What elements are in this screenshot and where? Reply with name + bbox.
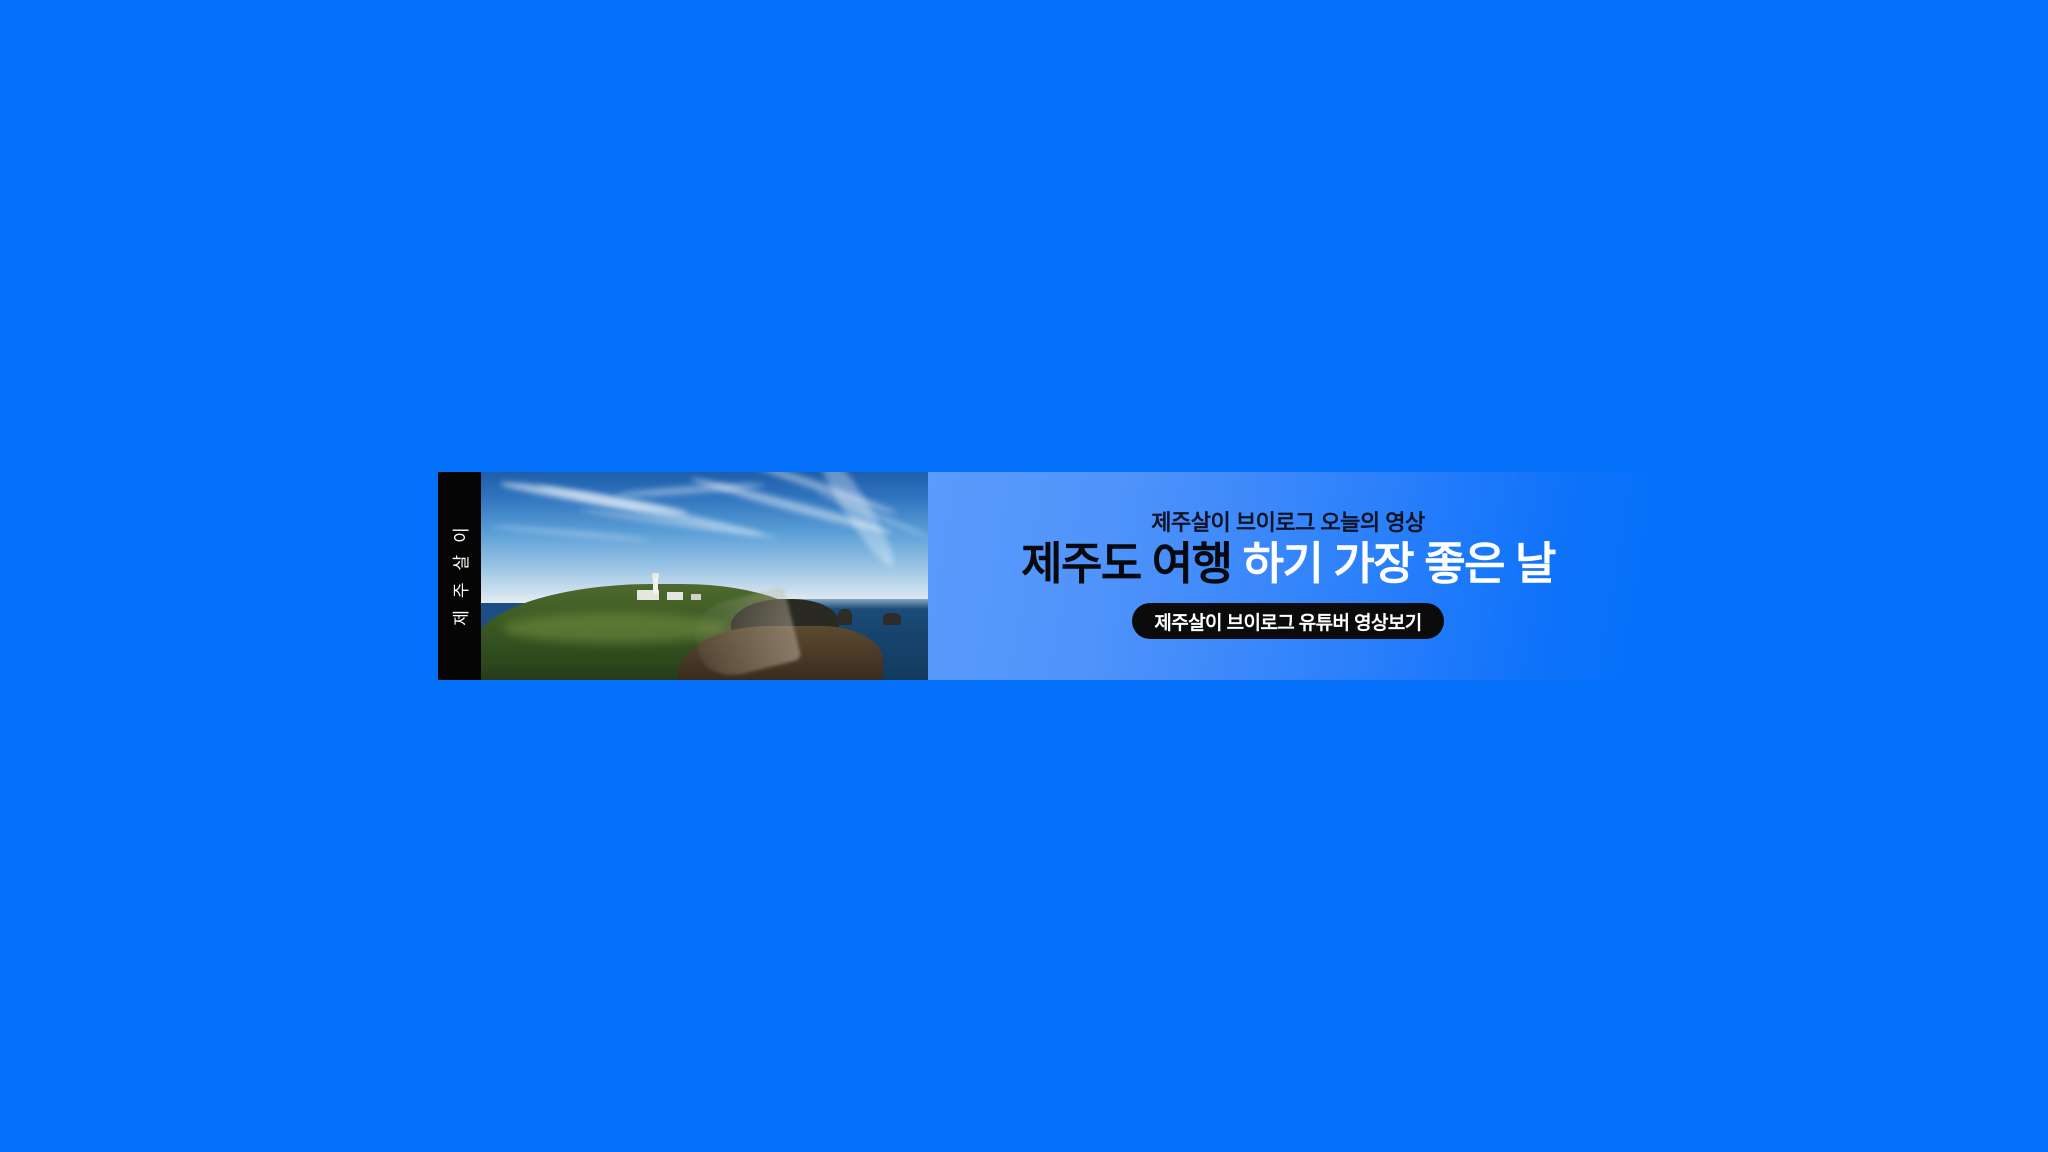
headline-dark-part: 제주도 여행 <box>1021 538 1232 589</box>
banner-eyebrow: 제주살이 브이로그 오늘의 영상 <box>1151 511 1424 535</box>
sky-region <box>481 472 928 603</box>
cloud-streak-icon <box>490 523 650 543</box>
lighthouse-icon <box>653 577 658 594</box>
banner-headline: 제주도 여행 하기 가장 좋은 날 <box>1021 539 1555 589</box>
sea-rock-icon <box>883 613 901 625</box>
sea-rock-icon <box>838 609 852 625</box>
vertical-label-strip: 제주살이 <box>438 472 481 680</box>
building-icon <box>691 594 701 600</box>
building-icon <box>667 592 683 600</box>
headline-light-part: 하기 가장 좋은 날 <box>1243 538 1555 589</box>
banner-copy-panel: 제주살이 브이로그 오늘의 영상 제주도 여행 하기 가장 좋은 날 제주살이 … <box>928 472 1648 680</box>
promo-banner[interactable]: 제주살이 제주살이 브이로그 오늘의 영상 제주도 <box>438 472 1648 680</box>
vertical-label-text: 제주살이 <box>447 515 472 638</box>
jeju-coastal-lighthouse-photo <box>481 472 928 680</box>
grass-highlight <box>503 613 727 642</box>
watch-video-button[interactable]: 제주살이 브이로그 유튜버 영상보기 <box>1132 603 1443 639</box>
